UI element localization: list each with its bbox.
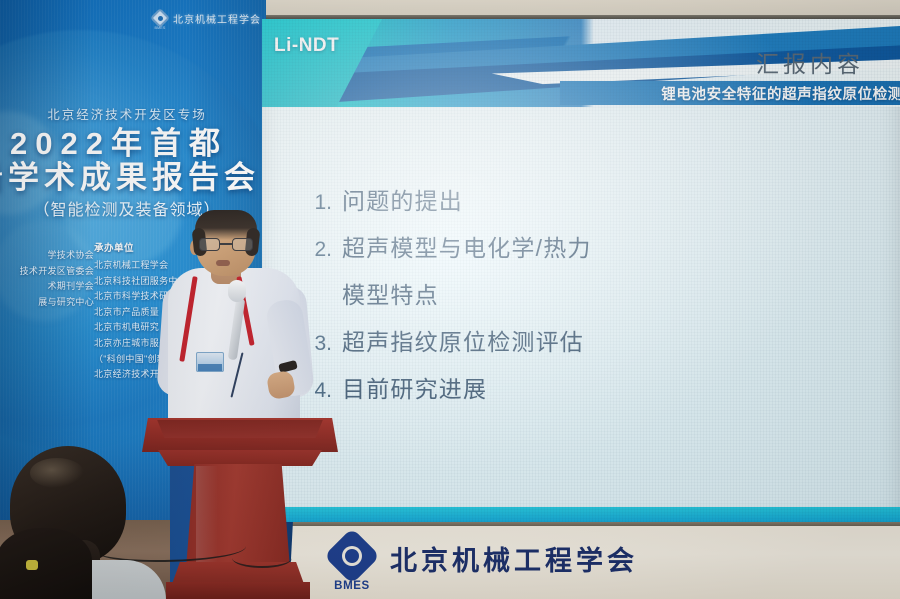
bmes-logo-icon: BMES (330, 536, 374, 580)
list-item-text: 问题的提出 (342, 187, 463, 216)
name-badge-band (198, 364, 222, 371)
podium-neck (158, 450, 322, 466)
list-item: 2. 超声模型与电化学/热力 (310, 234, 900, 263)
list-item: 1. 问题的提出 (310, 187, 900, 216)
list-item-number: 1. (310, 191, 332, 215)
organizer-item: 技术开发区管委会 (0, 264, 94, 280)
slide-title: 汇报内容 (756, 45, 864, 79)
podium-top-face (150, 420, 330, 438)
microphone-head (228, 280, 246, 302)
audience-hair-sheen (30, 458, 84, 488)
hair-clip (26, 560, 38, 570)
slide-logo: Li-NDT (274, 35, 339, 57)
list-item: 3. 超声指纹原位检测评估 (310, 328, 900, 357)
organizer-item: 术期刊学会 (0, 279, 94, 295)
projection-screen: Li-NDT 汇报内容 锂电池安全特征的超声指纹原位检测评 1. 问题的提出 2… (262, 19, 900, 522)
list-item: 4. 目前研究进展 (310, 375, 900, 404)
speaker-mouth (216, 260, 230, 266)
slide-subtitle-bar: 锂电池安全特征的超声指纹原位检测评 (560, 81, 900, 105)
audience-head-second (0, 528, 92, 599)
slide-footer-bar (262, 507, 900, 522)
list-item-continuation: 模型特点 (342, 276, 900, 310)
list-item-text: 超声模型与电化学/热力 (342, 234, 592, 263)
organizer-item: 学技术协会 (0, 248, 94, 264)
list-item-number: 2. (310, 238, 332, 262)
bmes-wordmark: BMES (330, 580, 374, 592)
bmes-wordmark: BMES (152, 26, 168, 30)
wall-org-name: 北京机械工程学会 (390, 539, 638, 578)
slide-subtitle-text: 锂电池安全特征的超声指纹原位检测评 (661, 83, 900, 104)
list-item-number: 4. (310, 379, 332, 403)
list-item-text: 超声指纹原位检测评估 (342, 328, 584, 357)
floor-cable-2 (232, 548, 292, 568)
slide-agenda-list: 1. 问题的提出 2. 超声模型与电化学/热力 模型特点 3. 超声指纹原位检测… (310, 187, 900, 423)
organizer-item: 展与研究中心 (0, 295, 94, 311)
presentation-photo: BMES 北京机械工程学会 北京经济技术开发区专场 2022年首都 沿学术成果报… (0, 0, 900, 599)
wall-org-logo: BMES 北京机械工程学会 (330, 536, 638, 580)
bmes-diamond-icon: BMES (152, 10, 168, 26)
banner-organizers-left: 学技术协会 技术开发区管委会 术期刊学会 展与研究中心 (0, 248, 94, 310)
list-item-text: 目前研究进展 (342, 375, 487, 404)
podium-plinth (166, 582, 310, 599)
banner-org-name: 北京机械工程学会 (173, 11, 261, 26)
banner-org-logo: BMES 北京机械工程学会 (152, 10, 261, 26)
speaker-glasses (199, 238, 253, 251)
podium-base (172, 562, 304, 584)
banner-title-line2: 沿学术成果报告会 (0, 152, 266, 197)
list-item-number: 3. (310, 332, 332, 356)
